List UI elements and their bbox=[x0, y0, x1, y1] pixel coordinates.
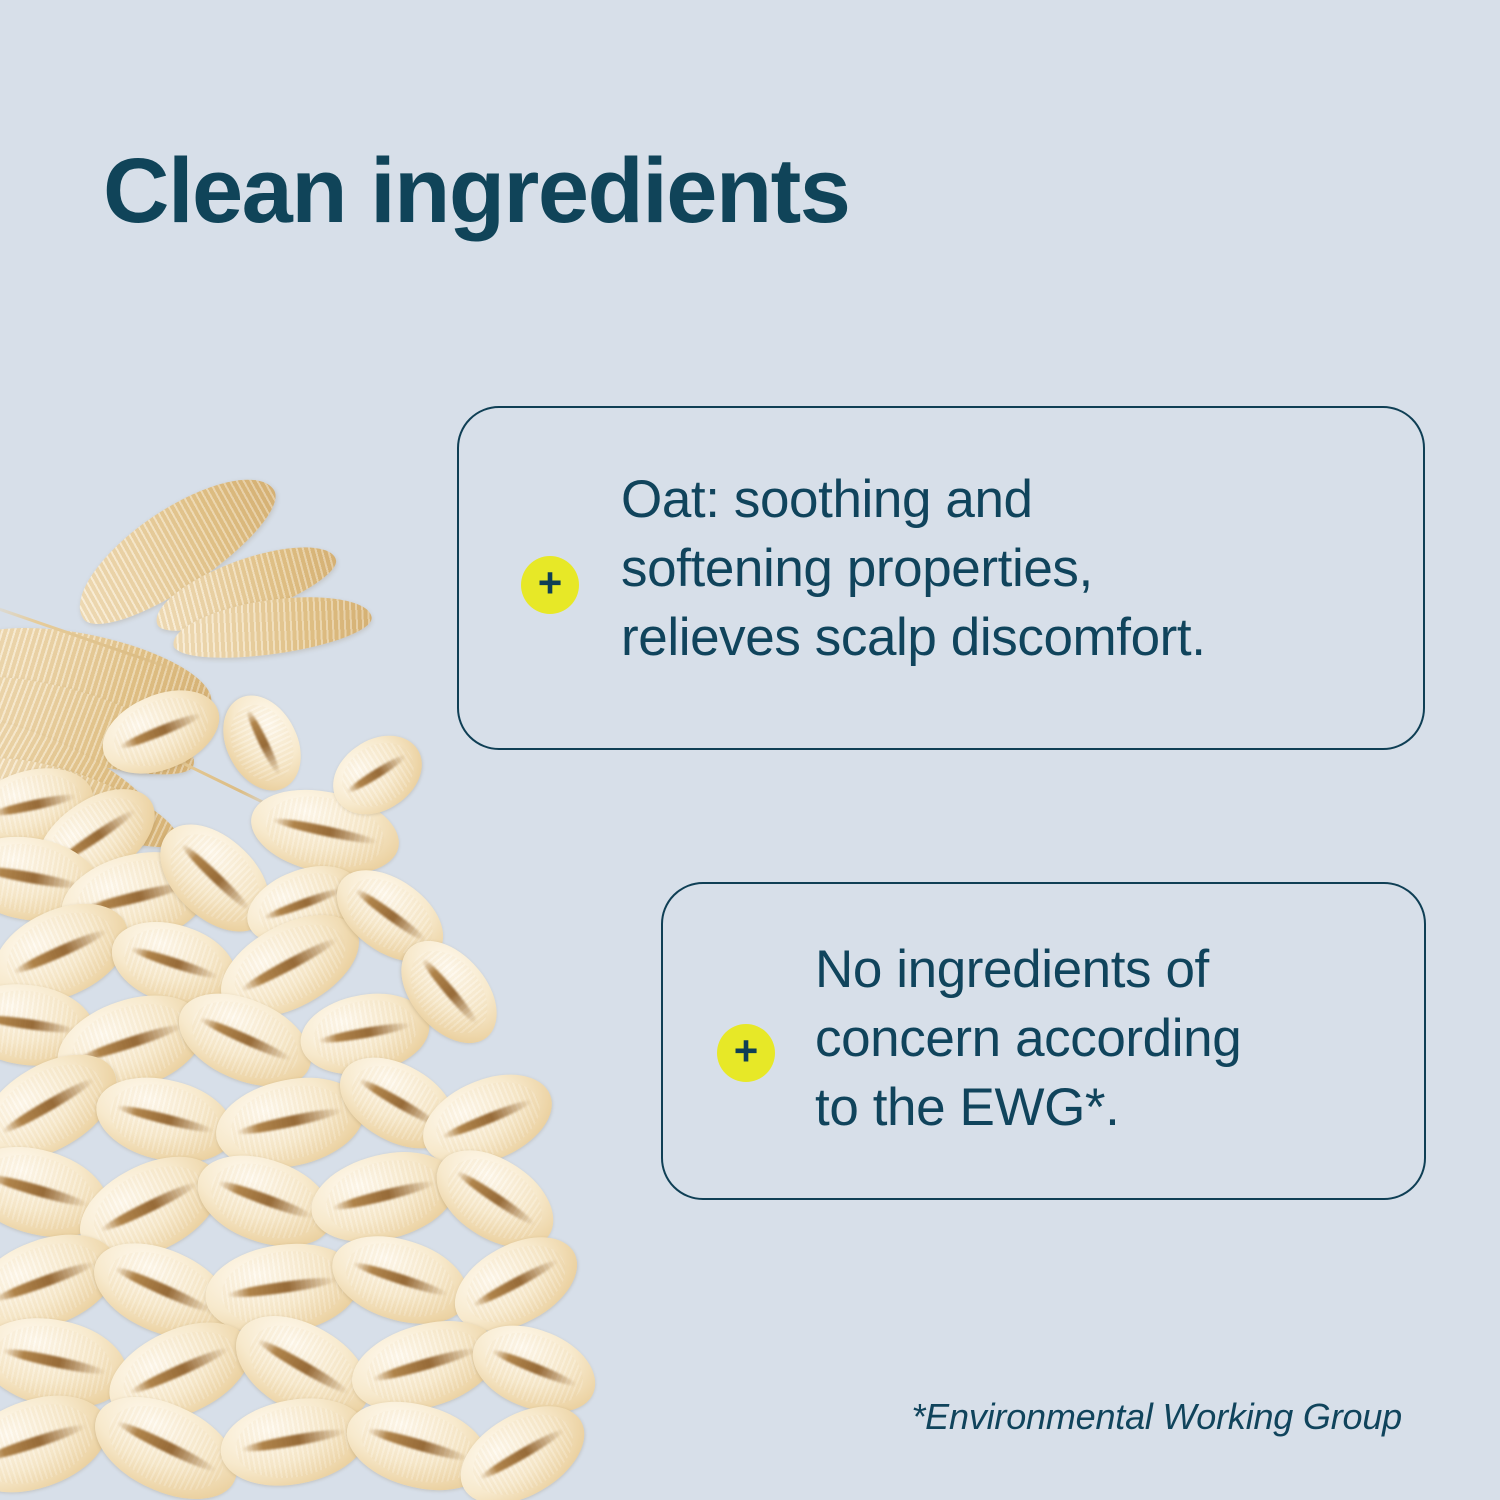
oat-flake bbox=[294, 984, 436, 1083]
oat-flake bbox=[324, 1039, 470, 1167]
benefit-card-oat: + Oat: soothing and softening properties… bbox=[457, 406, 1425, 750]
oat-flake bbox=[185, 1139, 345, 1264]
oat-husk bbox=[169, 586, 375, 667]
oat-flake bbox=[20, 770, 172, 907]
oat-flake bbox=[52, 838, 219, 960]
oat-flake bbox=[444, 1387, 601, 1500]
plus-badge-icon: + bbox=[521, 556, 579, 614]
oat-flake bbox=[302, 1138, 466, 1255]
oat-flake bbox=[237, 852, 372, 958]
clean-ingredients-infographic: Clean ingredients + Oat: soothing and so… bbox=[0, 0, 1500, 1500]
oat-flake bbox=[205, 895, 376, 1038]
oat-flake bbox=[419, 1130, 570, 1267]
oat-flake bbox=[0, 1379, 120, 1500]
oat-flake bbox=[140, 804, 289, 952]
oat-flake bbox=[200, 1235, 366, 1344]
oat-flake bbox=[87, 1064, 242, 1175]
oat-flake bbox=[45, 979, 217, 1110]
oat-flake bbox=[209, 683, 316, 804]
oat-flake bbox=[320, 852, 459, 981]
oat-flake bbox=[0, 1217, 130, 1349]
footnote-ewg-definition: *Environmental Working Group bbox=[911, 1396, 1402, 1438]
oat-flake bbox=[101, 907, 247, 1021]
oat-husk bbox=[0, 655, 204, 792]
oat-flake bbox=[218, 1295, 387, 1442]
oat-husk bbox=[0, 740, 187, 862]
oat-flake bbox=[243, 777, 406, 886]
plus-badge-icon: + bbox=[717, 1024, 775, 1082]
oat-flake bbox=[0, 1132, 119, 1253]
oat-awn bbox=[118, 731, 281, 813]
oat-flake bbox=[342, 1306, 509, 1426]
oat-flake bbox=[0, 885, 143, 1021]
oat-flake bbox=[79, 1376, 253, 1500]
oat-flake bbox=[214, 1388, 374, 1496]
oat-flake bbox=[80, 1224, 246, 1358]
oat-flake bbox=[383, 923, 516, 1061]
oat-awn bbox=[0, 603, 190, 676]
oat-flake bbox=[64, 1136, 237, 1279]
oat-flake bbox=[0, 1034, 134, 1181]
oat-husk bbox=[0, 609, 220, 732]
oat-flake bbox=[337, 1387, 499, 1500]
oat-flake bbox=[0, 758, 100, 853]
oat-flake bbox=[165, 975, 325, 1105]
oat-flake bbox=[321, 1220, 479, 1339]
oat-flake bbox=[0, 826, 106, 931]
benefit-text-oat: Oat: soothing and softening properties, … bbox=[621, 466, 1411, 673]
benefit-text-ewg: No ingredients of concern according to t… bbox=[815, 936, 1415, 1143]
oat-flake bbox=[91, 675, 232, 789]
oat-husk bbox=[146, 529, 343, 646]
oat-flake bbox=[410, 1058, 565, 1183]
oat-flake bbox=[439, 1219, 592, 1350]
oat-flake bbox=[0, 976, 100, 1074]
page-title: Clean ingredients bbox=[103, 140, 849, 243]
benefit-card-ewg: + No ingredients of concern according to… bbox=[661, 882, 1426, 1200]
oat-flake bbox=[319, 720, 437, 830]
oat-flake bbox=[460, 1309, 608, 1429]
oat-flake bbox=[0, 1306, 135, 1421]
oat-husk bbox=[0, 695, 167, 845]
oat-flake bbox=[208, 1065, 373, 1180]
oat-flake bbox=[94, 1303, 265, 1441]
oat-husk bbox=[58, 452, 292, 645]
